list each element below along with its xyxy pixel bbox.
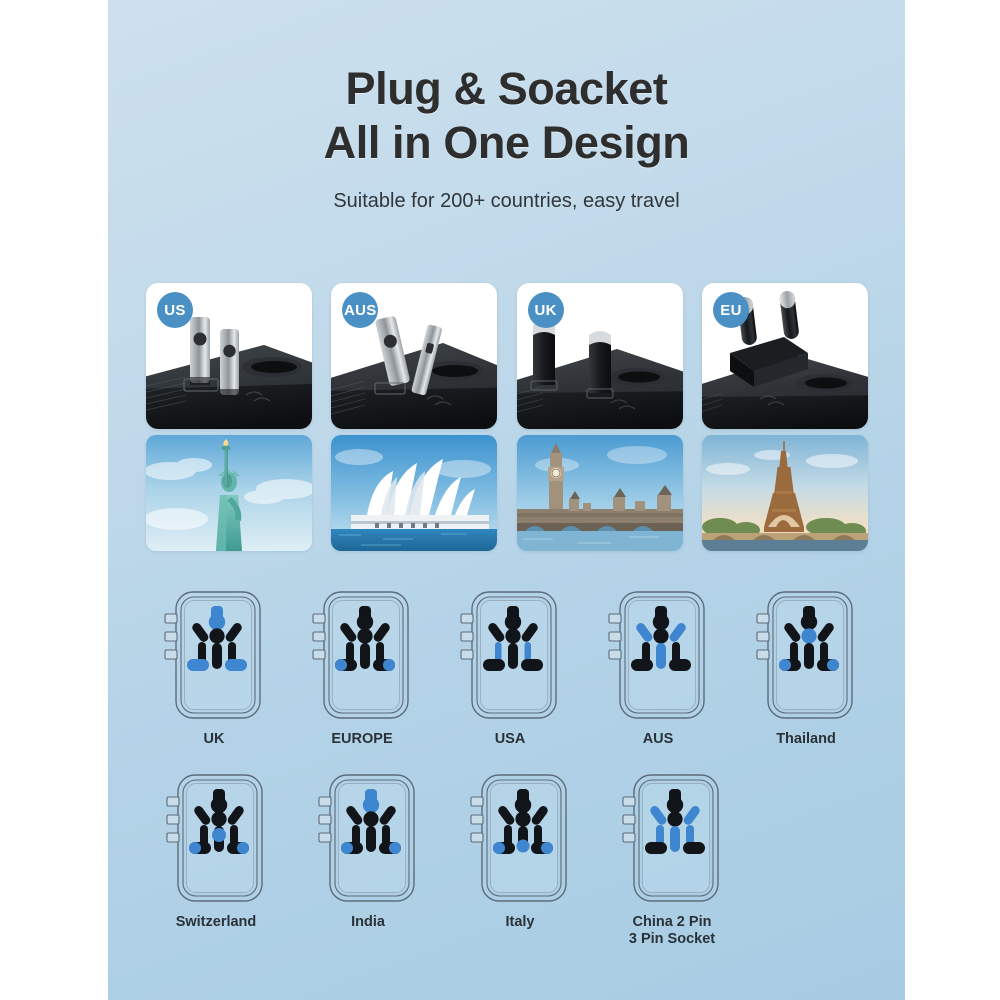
socket-label-aus: AUS	[643, 731, 674, 748]
socket-cell-italy: Italy	[444, 771, 596, 931]
universal-socket-diagram-europe	[310, 588, 414, 722]
socket-cell-china: China 2 Pin 3 Pin Socket	[596, 771, 748, 948]
universal-socket-diagram-aus	[606, 588, 710, 722]
socket-cell-india: India	[292, 771, 444, 931]
statue-of-liberty-icon	[146, 435, 312, 551]
landmark-photo-eiffel-tower	[702, 435, 868, 551]
landmark-photo-statue-of-liberty	[146, 435, 312, 551]
socket-side-tabs	[757, 614, 769, 659]
socket-row-1: UK	[140, 588, 880, 748]
socket-label-india: India	[351, 914, 385, 931]
plug-photo-row: US	[146, 283, 868, 551]
socket-label-uk: UK	[204, 731, 225, 748]
socket-label-switzerland: Switzerland	[176, 914, 257, 931]
socket-cell-usa: USA	[436, 588, 584, 748]
socket-cell-europe: EUROPE	[288, 588, 436, 748]
socket-label-europe: EUROPE	[331, 731, 392, 748]
socket-cell-aus: AUS	[584, 588, 732, 748]
region-badge-eu: EU	[713, 292, 749, 328]
eiffel-tower-icon	[702, 435, 868, 551]
product-infographic: Plug & Soacket All in One Design Suitabl…	[0, 0, 1000, 1000]
photo-card-us: US	[146, 283, 312, 551]
photo-card-uk: UK	[517, 283, 683, 551]
socket-cell-switzerland: Switzerland	[140, 771, 292, 931]
landmark-photo-sydney-opera-house	[331, 435, 497, 551]
universal-socket-diagram-uk	[162, 588, 266, 722]
socket-side-tabs	[165, 614, 177, 659]
socket-side-tabs	[623, 797, 635, 842]
socket-side-tabs	[461, 614, 473, 659]
socket-side-tabs	[313, 614, 325, 659]
universal-socket-diagram-italy	[468, 771, 572, 905]
sydney-opera-house-icon	[331, 435, 497, 551]
socket-side-tabs	[609, 614, 621, 659]
universal-socket-diagram-switzerland	[164, 771, 268, 905]
plug-photo-aus: AUS	[331, 283, 497, 429]
universal-socket-diagram-usa	[458, 588, 562, 722]
socket-label-thailand: Thailand	[776, 731, 836, 748]
socket-compatibility-grid: UK	[140, 588, 880, 948]
universal-socket-diagram-india	[316, 771, 420, 905]
landmark-photo-big-ben	[517, 435, 683, 551]
socket-label-usa: USA	[495, 731, 526, 748]
region-badge-uk: UK	[528, 292, 564, 328]
socket-row-2: Switzerland	[140, 771, 880, 948]
socket-label-italy: Italy	[505, 914, 534, 931]
plug-photo-us: US	[146, 283, 312, 429]
photo-card-aus: AUS	[331, 283, 497, 551]
photo-card-eu: EU	[702, 283, 868, 551]
plug-photo-uk: UK	[517, 283, 683, 429]
plug-photo-eu: EU	[702, 283, 868, 429]
socket-label-china: China 2 Pin 3 Pin Socket	[629, 914, 715, 948]
big-ben-westminster-icon	[517, 435, 683, 551]
socket-side-tabs	[319, 797, 331, 842]
socket-side-tabs	[471, 797, 483, 842]
socket-side-tabs	[167, 797, 179, 842]
region-badge-us: US	[157, 292, 193, 328]
socket-cell-uk: UK	[140, 588, 288, 748]
universal-socket-diagram-thailand	[754, 588, 858, 722]
socket-cell-thailand: Thailand	[732, 588, 880, 748]
universal-socket-diagram-china	[620, 771, 724, 905]
